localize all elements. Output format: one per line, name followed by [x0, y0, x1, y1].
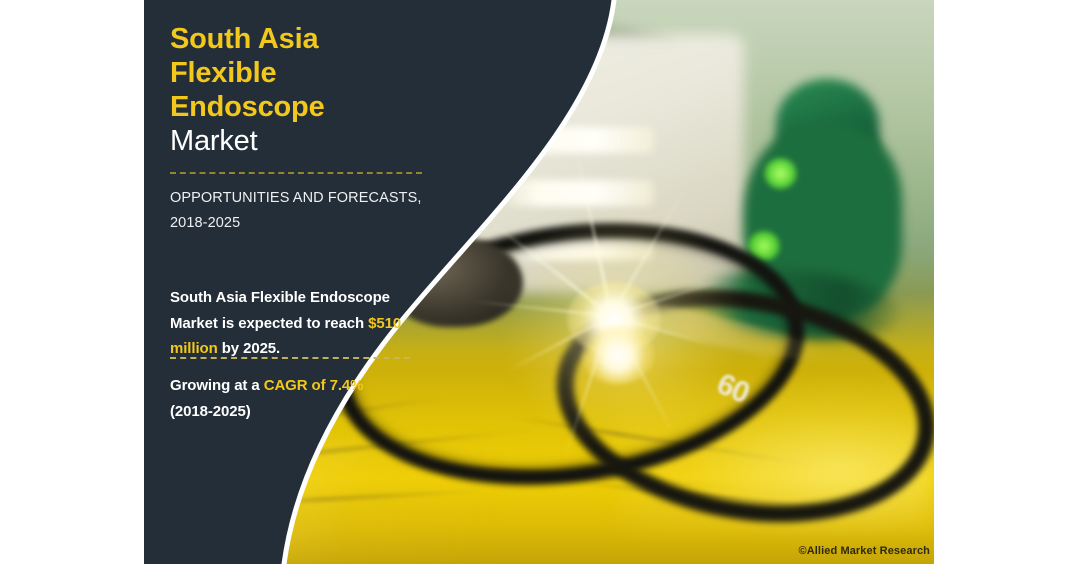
panel-content: South Asia Flexible Endoscope Market OPP… — [144, 0, 934, 564]
divider-bottom — [170, 357, 410, 359]
cagr-statement: Growing at a CAGR of 7.4%(2018-2025) — [170, 373, 438, 424]
title-line-4: Market — [170, 125, 257, 157]
page-title: South Asia Flexible Endoscope Market — [170, 22, 470, 158]
title-line-2: Flexible — [170, 57, 276, 89]
title-line-1: South Asia — [170, 23, 318, 55]
lede-part-1: South Asia Flexible Endoscope Market is … — [170, 289, 390, 332]
title-line-3: Endoscope — [170, 91, 325, 123]
infographic-banner: 60 South Asia Flexible Endoscope Market … — [144, 0, 934, 564]
growth-period: (2018-2025) — [170, 403, 251, 420]
market-value-statement: South Asia Flexible Endoscope Market is … — [170, 285, 438, 362]
copyright-credit: ©Allied Market Research — [799, 545, 930, 557]
growth-part-1: Growing at a — [170, 377, 264, 394]
subtitle: OPPORTUNITIES AND FORECASTS, 2018-2025 — [170, 186, 450, 236]
cagr-highlight: CAGR of 7.4% — [264, 377, 364, 394]
divider-top — [170, 172, 422, 174]
lede-part-2: by 2025. — [218, 340, 280, 357]
